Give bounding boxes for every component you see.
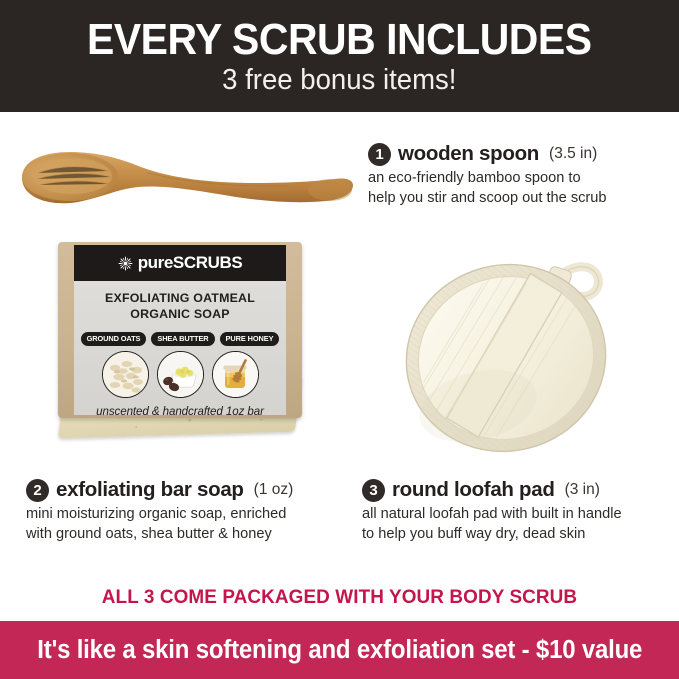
- ingredient-photo-row: [102, 351, 259, 398]
- item-1-description: an eco-friendly bamboo spoon to help you…: [368, 169, 668, 209]
- shea-butter-photo: [157, 351, 204, 398]
- honey-jar-photo: [212, 351, 259, 398]
- item-3-description: all natural loofah pad with built in han…: [362, 505, 672, 545]
- soap-label-panel: pureSCRUBS EXFOLIATING OATMEAL ORGANIC S…: [74, 245, 286, 415]
- item-1-heading: 1 wooden spoon (3.5 in): [368, 142, 668, 166]
- item-1-quantity: (3.5 in): [549, 145, 597, 163]
- item-2-quantity: (1 oz): [254, 481, 294, 499]
- ingredient-pill-honey: PURE HONEY: [220, 332, 280, 346]
- soap-fleck: [188, 419, 191, 422]
- item-3-description-line-2: to help you buff way dry, dead skin: [362, 525, 672, 545]
- ingredient-pill-shea: SHEA BUTTER: [151, 332, 214, 346]
- item-2-title: exfoliating bar soap: [56, 478, 244, 502]
- soap-brand-band: pureSCRUBS: [74, 245, 286, 281]
- soap-label-body: EXFOLIATING OATMEAL ORGANIC SOAP GROUND …: [74, 281, 286, 415]
- footer-value-banner: It's like a skin softening and exfoliati…: [0, 621, 679, 679]
- item-2-heading: 2 exfoliating bar soap (1 oz): [26, 478, 346, 502]
- item-3-quantity: (3 in): [565, 481, 600, 499]
- loofah-pad-image: [398, 238, 628, 460]
- ingredient-pill-oats: GROUND OATS: [81, 332, 147, 346]
- footer-banner-text: It's like a skin softening and exfoliati…: [37, 636, 642, 665]
- item-3-text-block: 3 round loofah pad (3 in) all natural lo…: [362, 478, 672, 545]
- ingredient-pill-row: GROUND OATS SHEA BUTTER PURE HONEY: [81, 332, 280, 346]
- bar-soap-image: pureSCRUBS EXFOLIATING OATMEAL ORGANIC S…: [48, 236, 316, 456]
- item-3-title: round loofah pad: [392, 478, 555, 502]
- soap-product-line-1: EXFOLIATING OATMEAL: [105, 291, 255, 307]
- brand-name: pureSCRUBS: [138, 253, 243, 273]
- item-2-description-line-1: mini moisturizing organic soap, enriched: [26, 505, 346, 525]
- page-title: EVERY SCRUB INCLUDES: [87, 18, 592, 62]
- oats-photo: [102, 351, 149, 398]
- item-1-description-line-2: help you stir and scoop out the scrub: [368, 189, 668, 209]
- item-3-description-line-1: all natural loofah pad with built in han…: [362, 505, 672, 525]
- footer-note: ALL 3 COME PACKAGED WITH YOUR BODY SCRUB: [10, 586, 669, 609]
- item-3-number-badge: 3: [362, 479, 385, 502]
- wooden-spoon-image: [8, 143, 358, 213]
- item-2-description: mini moisturizing organic soap, enriched…: [26, 505, 346, 545]
- page-subtitle: 3 free bonus items!: [222, 66, 456, 95]
- soap-fleck: [135, 426, 137, 428]
- item-1-number-badge: 1: [368, 143, 391, 166]
- soap-fleck: [260, 419, 263, 421]
- soap-product-line-2: ORGANIC SOAP: [130, 307, 229, 323]
- item-3-heading: 3 round loofah pad (3 in): [362, 478, 672, 502]
- soap-label-footer: unscented & handcrafted 1oz bar: [96, 405, 264, 418]
- item-2-text-block: 2 exfoliating bar soap (1 oz) mini moist…: [26, 478, 346, 545]
- mandala-icon: [118, 256, 133, 271]
- item-2-number-badge: 2: [26, 479, 49, 502]
- soap-carton-sleeve: pureSCRUBS EXFOLIATING OATMEAL ORGANIC S…: [58, 242, 302, 418]
- item-1-description-line-1: an eco-friendly bamboo spoon to: [368, 169, 668, 189]
- item-1-text-block: 1 wooden spoon (3.5 in) an eco-friendly …: [368, 142, 668, 209]
- item-1-title: wooden spoon: [398, 142, 539, 166]
- item-2-description-line-2: with ground oats, shea butter & honey: [26, 525, 346, 545]
- header-banner: EVERY SCRUB INCLUDES 3 free bonus items!: [0, 0, 679, 112]
